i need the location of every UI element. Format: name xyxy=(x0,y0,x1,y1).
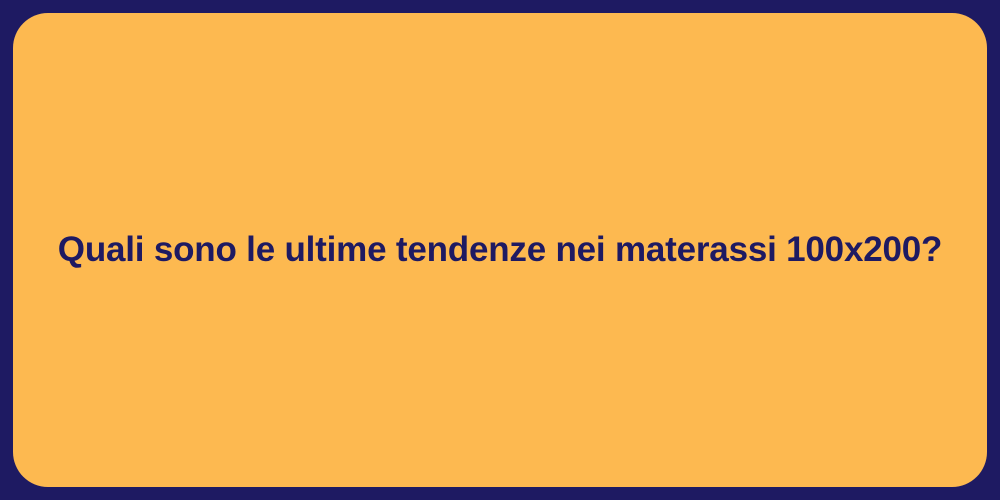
outer-border-frame: Quali sono le ultime tendenze nei matera… xyxy=(0,0,1000,500)
page-title: Quali sono le ultime tendenze nei matera… xyxy=(13,228,987,272)
question-card: Quali sono le ultime tendenze nei matera… xyxy=(13,13,987,487)
